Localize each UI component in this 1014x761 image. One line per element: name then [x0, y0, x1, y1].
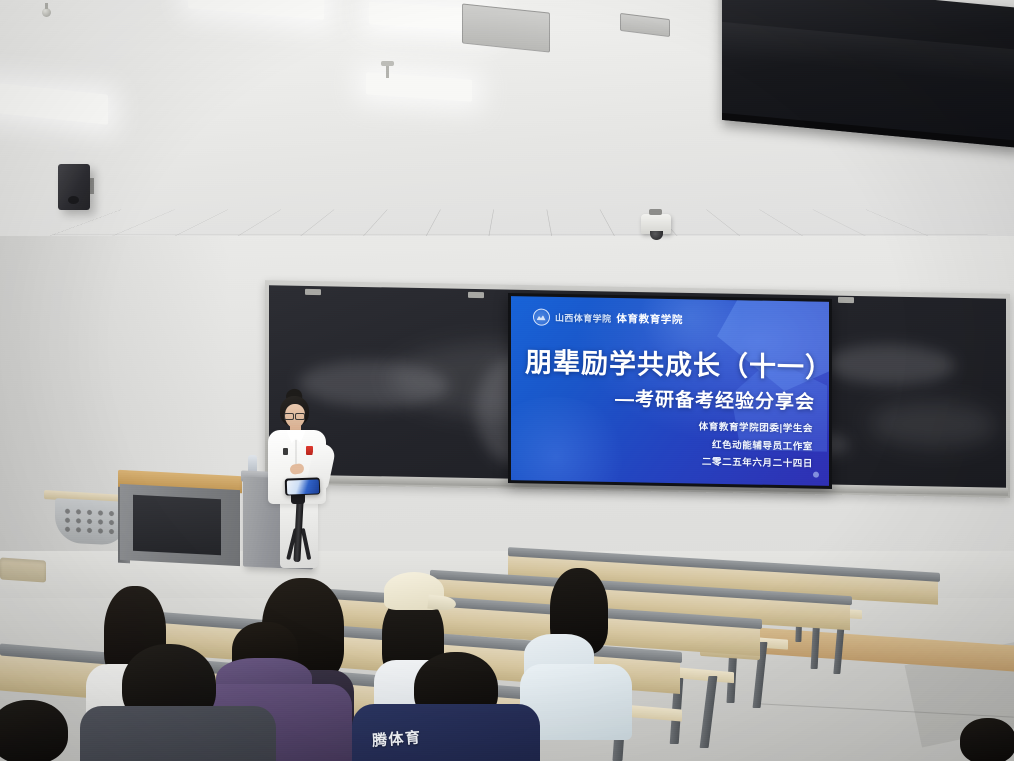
display-reflection	[722, 22, 1014, 87]
presentation-slide: 山西体育学院 体育教育学院 朋辈励学共成长（十一） —考研备考经验分享会 体育教…	[511, 296, 829, 486]
student-front-left	[80, 644, 280, 761]
chair-perforations	[62, 506, 120, 537]
college-name: 体育教育学院	[616, 311, 683, 327]
student-head	[960, 718, 1014, 761]
storage-basket	[0, 557, 46, 582]
slide-credits: 体育教育学院团委|学生会 红色动能辅导员工作室 二零二五年六月二十四日	[699, 419, 813, 474]
student-head	[0, 700, 68, 761]
student-far-right	[960, 718, 1014, 761]
phone-screen	[286, 479, 318, 494]
wall-speaker	[58, 164, 90, 210]
blackboard-clip	[305, 289, 321, 295]
slide-subtitle: —考研备考经验分享会	[615, 384, 815, 415]
credit-date: 二零二五年六月二十四日	[699, 454, 813, 474]
slide-title: 朋辈励学共成长（十一）	[525, 340, 821, 384]
university-seal-icon	[533, 308, 550, 325]
sprinkler-head	[42, 8, 51, 17]
projection-screen[interactable]: 山西体育学院 体育教育学院 朋辈励学共成长（十一） —考研备考经验分享会 体育教…	[508, 293, 832, 489]
jersey-text: 腾体育	[371, 726, 422, 750]
smartphone-on-gimbal[interactable]	[285, 477, 321, 495]
slide-corner-dot	[813, 472, 819, 478]
ceiling-vent-2	[620, 13, 670, 37]
student-top	[80, 706, 276, 761]
ceiling-vent-1	[462, 3, 550, 52]
blackboard-clip	[838, 297, 854, 303]
blackboard-clip	[468, 292, 484, 298]
student-left-edge	[0, 700, 90, 761]
student-navy-jersey: 腾体育	[352, 652, 542, 761]
chalk-smudge	[825, 343, 955, 385]
chalk-smudge	[869, 400, 997, 448]
ceiling-dome-camera	[641, 214, 671, 234]
slide-branding: 山西体育学院 体育教育学院	[533, 308, 683, 328]
credit-organizer: 体育教育学院团委|学生会	[699, 419, 813, 439]
slide-decor-glow-left	[511, 396, 631, 486]
credit-studio: 红色动能辅导员工作室	[699, 436, 813, 456]
presenter-placket	[295, 440, 297, 466]
ceiling-drop-stem	[386, 64, 389, 78]
lecture-hall-photo: 山西体育学院 体育教育学院 朋辈励学共成长（十一） —考研备考经验分享会 体育教…	[0, 0, 1014, 761]
ceiling-light-1	[0, 81, 108, 124]
university-name: 山西体育学院	[555, 311, 611, 325]
ceiling-light-3	[366, 72, 472, 101]
teacher-desk-panel	[133, 495, 221, 556]
cap-brim	[427, 595, 456, 612]
eyeglasses-icon	[284, 413, 305, 418]
presenter-pin	[283, 448, 288, 455]
ceiling-light-2	[188, 0, 324, 20]
